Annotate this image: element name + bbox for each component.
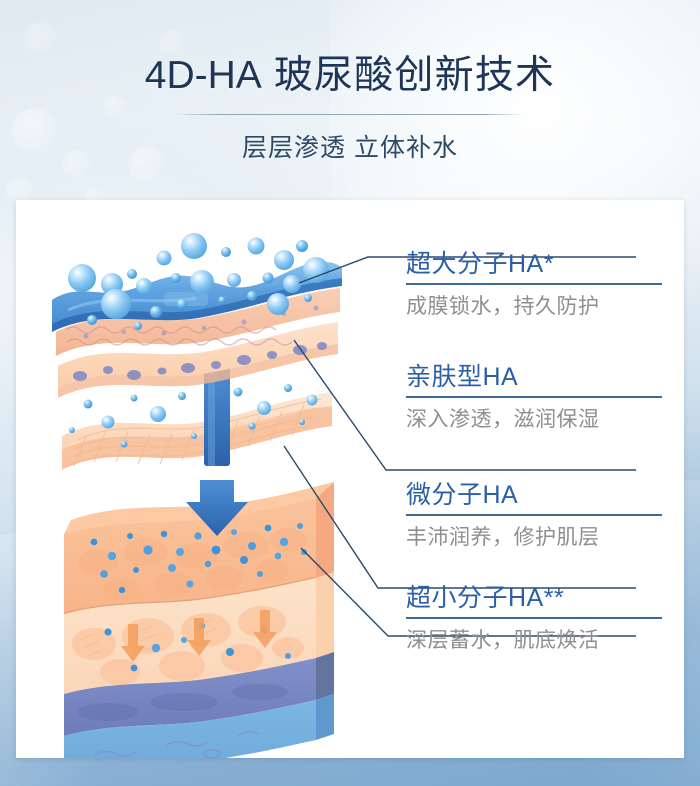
label-description: 深入渗透，滋润保湿 bbox=[406, 403, 664, 433]
label-title: 微分子HA bbox=[406, 482, 664, 510]
label-ultra-large-ha[interactable]: 超大分子HA* 成膜锁水，持久防护 bbox=[406, 251, 664, 320]
label-title: 超大分子HA* bbox=[406, 251, 664, 279]
label-micro-ha[interactable]: 微分子HA 丰沛润养，修护肌层 bbox=[406, 482, 664, 551]
label-underline bbox=[406, 396, 662, 398]
label-underline bbox=[406, 514, 662, 516]
label-ultra-small-ha[interactable]: 超小分子HA** 深层蓄水，肌底焕活 bbox=[406, 585, 664, 654]
label-description: 深层蓄水，肌底焕活 bbox=[406, 624, 664, 654]
label-description: 丰沛润养，修护肌层 bbox=[406, 521, 664, 551]
label-underline bbox=[406, 617, 662, 619]
label-description: 成膜锁水，持久防护 bbox=[406, 290, 664, 320]
label-skin-friendly-ha[interactable]: 亲肤型HA 深入渗透，滋润保湿 bbox=[406, 364, 664, 433]
label-title: 超小分子HA** bbox=[406, 585, 664, 613]
label-group: 超大分子HA* 成膜锁水，持久防护 亲肤型HA 深入渗透，滋润保湿 微分子HA … bbox=[0, 0, 700, 786]
label-title: 亲肤型HA bbox=[406, 364, 664, 392]
label-underline bbox=[406, 283, 662, 285]
